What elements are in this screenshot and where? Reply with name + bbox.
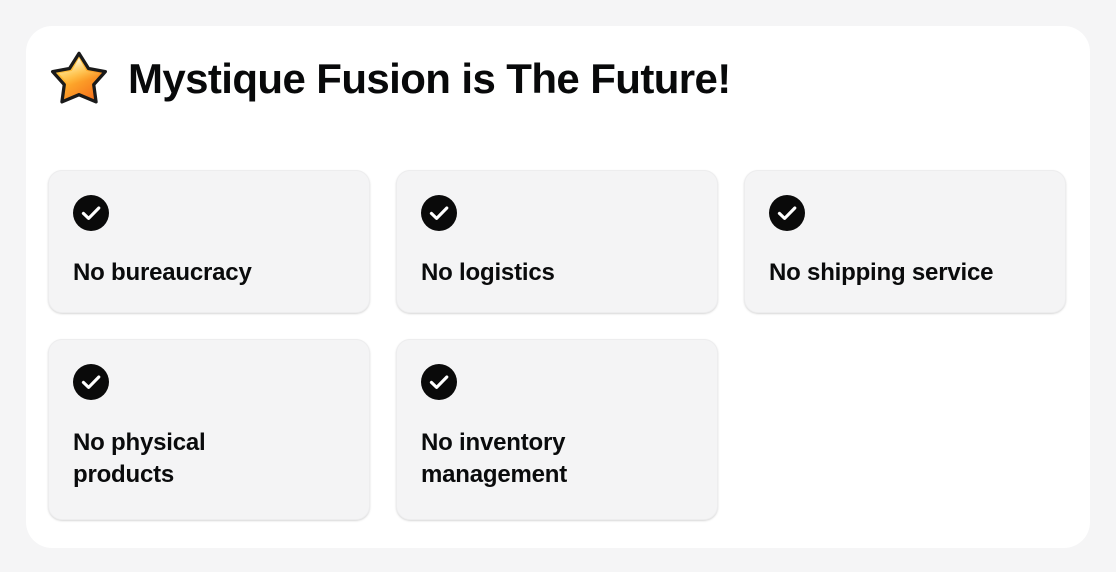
feature-card-label: No inventory management <box>421 427 693 491</box>
check-circle-icon <box>73 364 345 400</box>
star-icon <box>48 48 110 110</box>
page-root: Mystique Fusion is The Future! No bureau… <box>0 0 1116 572</box>
feature-card-label: No bureaucracy <box>73 257 345 289</box>
feature-card[interactable]: No physical products <box>48 339 370 520</box>
feature-card[interactable]: No bureaucracy <box>48 170 370 313</box>
feature-card-label: No shipping service <box>769 257 1041 289</box>
page-title: Mystique Fusion is The Future! <box>128 57 731 101</box>
feature-card-label: No physical products <box>73 427 345 491</box>
check-circle-icon <box>769 195 1041 231</box>
feature-card[interactable]: No shipping service <box>744 170 1066 313</box>
feature-card-grid: No bureaucracy No logistics <box>48 170 1068 520</box>
check-circle-icon <box>421 364 693 400</box>
feature-card[interactable]: No logistics <box>396 170 718 313</box>
check-circle-icon <box>421 195 693 231</box>
content-panel: Mystique Fusion is The Future! No bureau… <box>26 26 1090 548</box>
feature-card-label: No logistics <box>421 257 693 289</box>
check-circle-icon <box>73 195 345 231</box>
feature-card[interactable]: No inventory management <box>396 339 718 520</box>
page-header: Mystique Fusion is The Future! <box>48 48 731 110</box>
